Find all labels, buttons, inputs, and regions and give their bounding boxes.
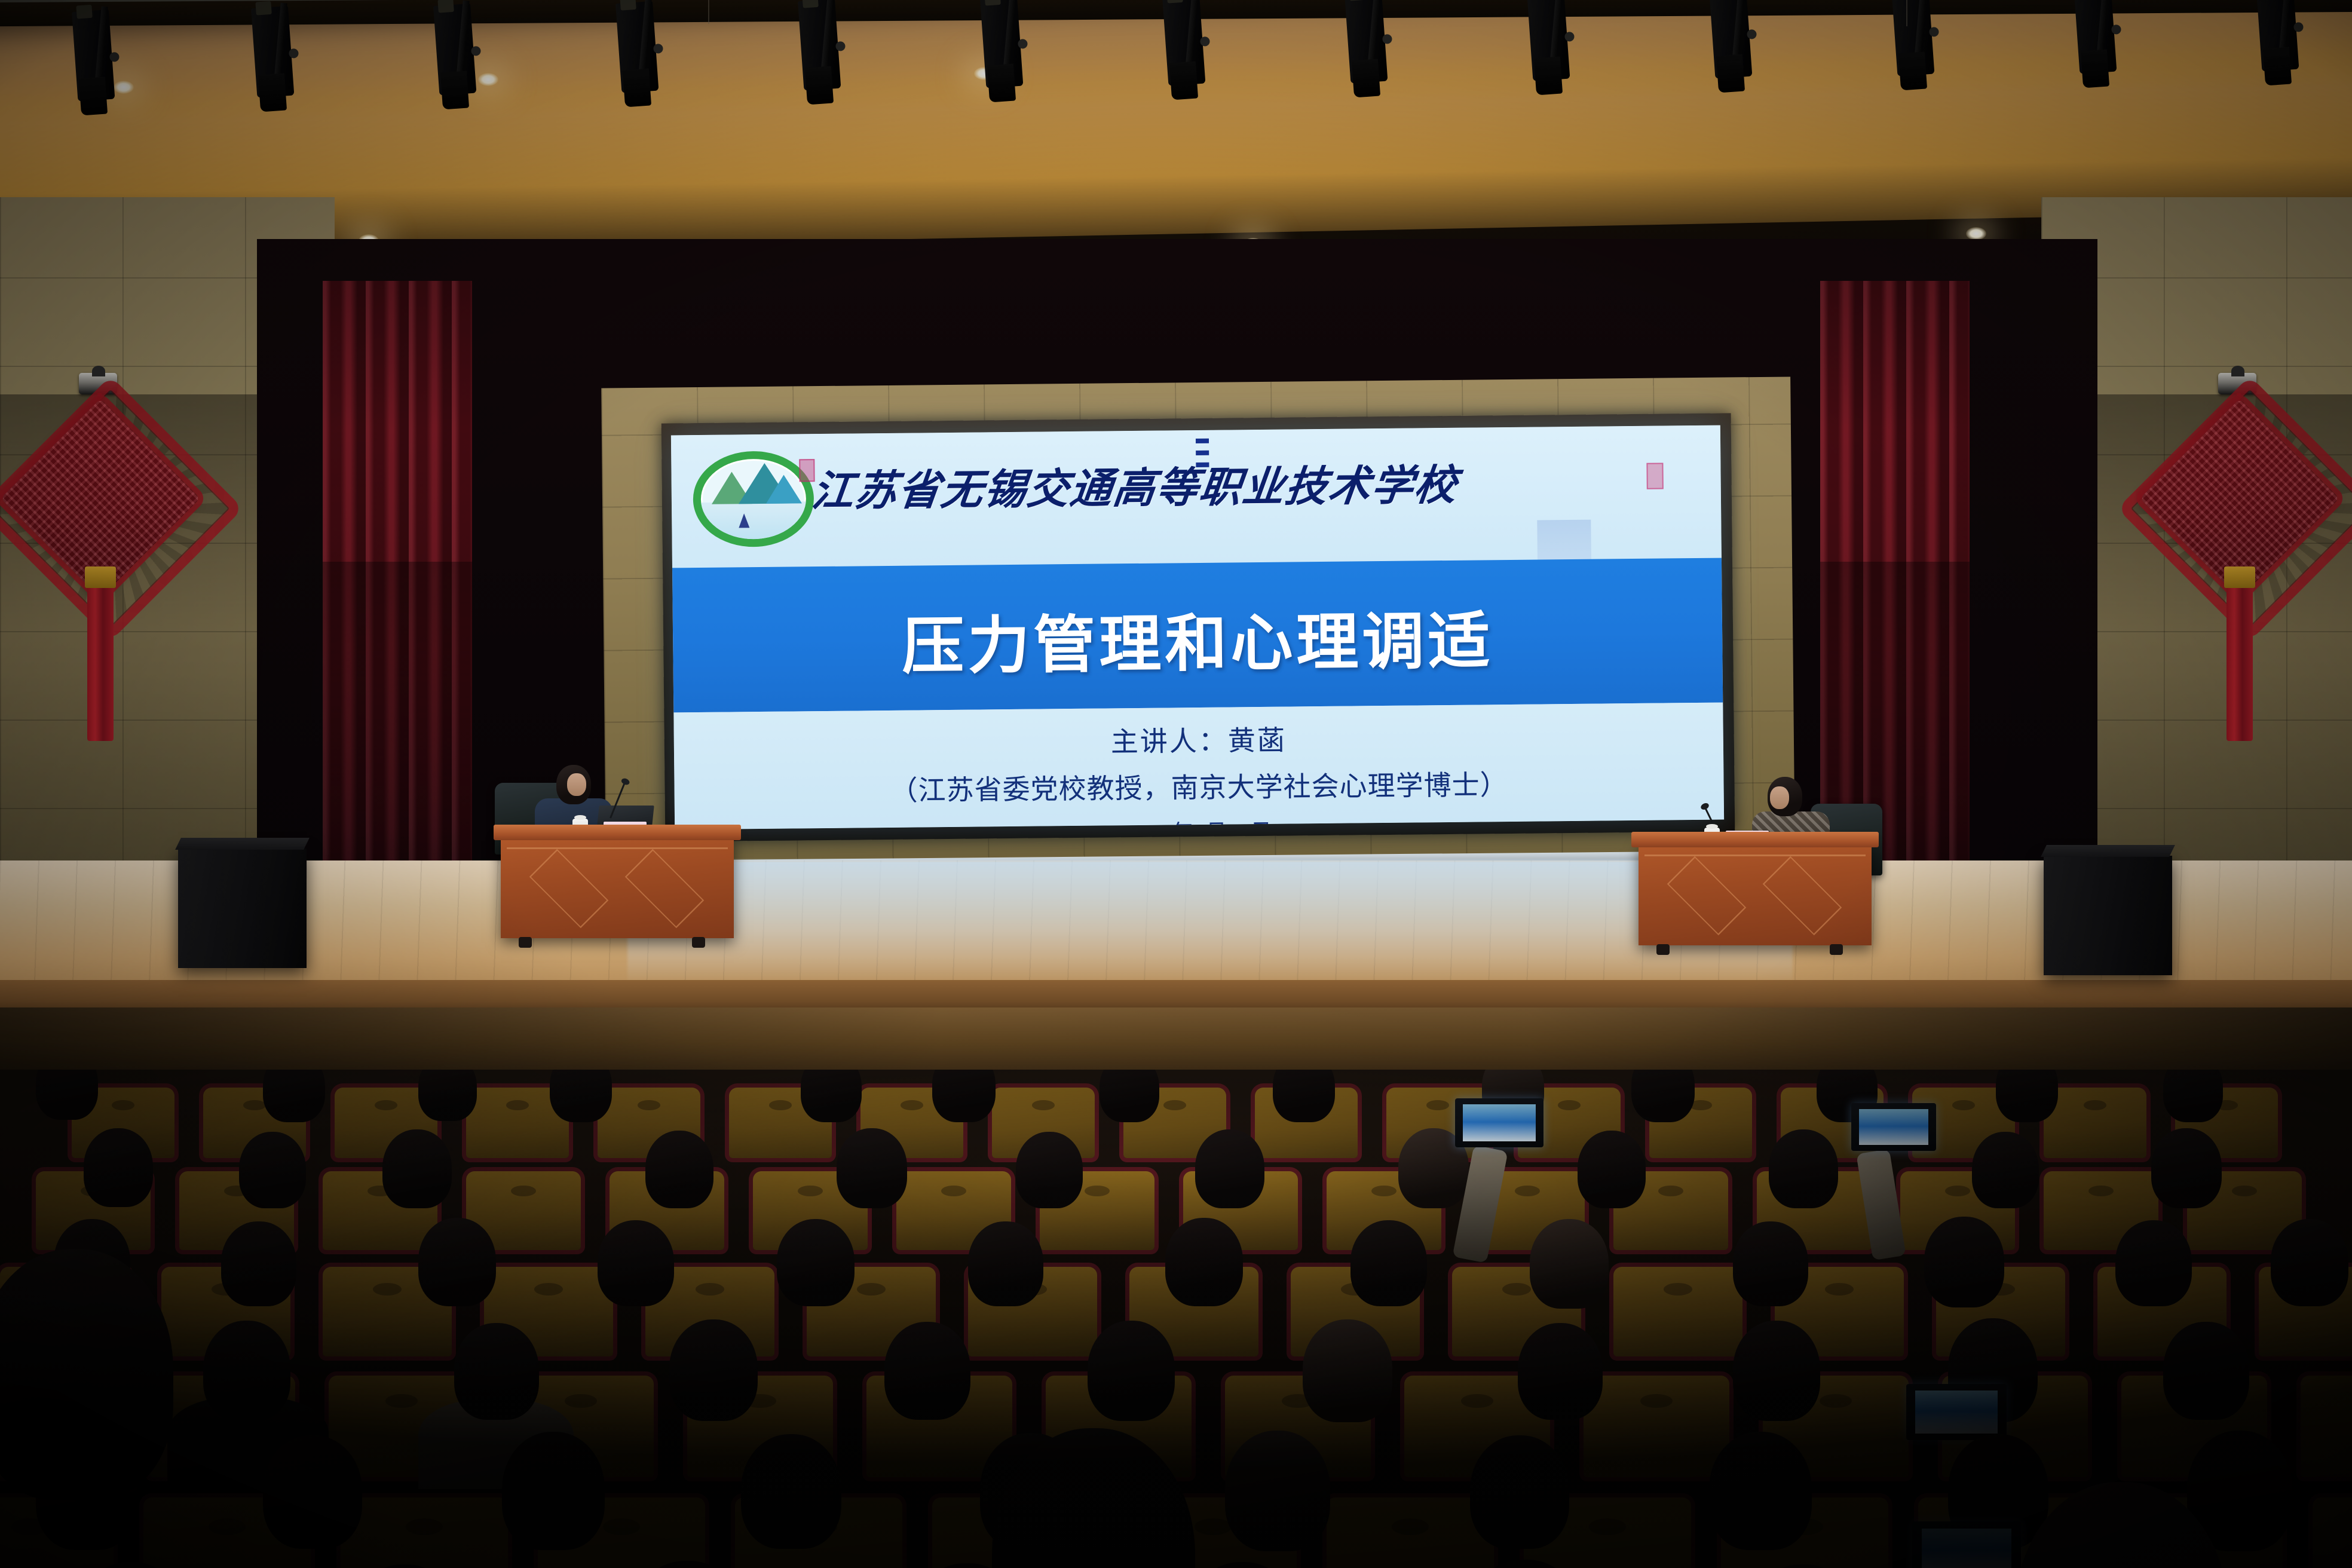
desk-rail: [507, 847, 728, 849]
audience-head: [1631, 1070, 1695, 1122]
slide-header: 江苏省无锡交通高等职业技术学校: [671, 425, 1722, 568]
audience-head: [1470, 1435, 1569, 1549]
audience-head: [1578, 1131, 1646, 1208]
audience-head: [1273, 1070, 1335, 1122]
truss-hang-wire-1: [708, 0, 709, 24]
stage-light-fixture-1: [72, 10, 115, 102]
seat: [1613, 1267, 1742, 1356]
audience-head: [1088, 1321, 1175, 1421]
audience-head: [1733, 1221, 1808, 1306]
audience-head-foreground-left: [0, 1249, 173, 1500]
desk-caster-right: [1830, 944, 1843, 955]
audience-head: [2115, 1220, 2192, 1306]
chinese-knot-left: [12, 370, 191, 825]
audience-head: [2163, 1322, 2249, 1420]
audience-head: [1769, 1129, 1838, 1208]
audience-head: [36, 1070, 98, 1120]
seal-stamp-right: [1646, 463, 1663, 489]
audience-phone: [1851, 1103, 1936, 1151]
knot-tassel: [87, 568, 114, 741]
slide-title-band: 压力管理和心理调适: [672, 558, 1723, 713]
desk-rail: [1644, 855, 1866, 856]
audience-head: [263, 1070, 325, 1122]
downlight-6: [1966, 227, 1986, 240]
desk-caster-left: [519, 937, 532, 948]
stage-light-fixture-3: [433, 4, 476, 96]
audience-head: [801, 1070, 862, 1122]
slide-dash-artifact: [1196, 439, 1209, 480]
logo-lake: [701, 502, 807, 540]
stage-light-fixture-2: [251, 6, 294, 98]
audience-head: [418, 1218, 496, 1306]
slide-school-name: 江苏省无锡交通高等职业技术学校: [809, 452, 1461, 518]
audience-head: [382, 1129, 452, 1208]
seat: [341, 1497, 508, 1568]
audience-head: [741, 1434, 841, 1549]
audience-head: [550, 1070, 612, 1122]
audience-head: [1530, 1219, 1609, 1309]
moderator-desk: [501, 837, 734, 938]
audience-head: [1100, 1070, 1159, 1122]
audience-head: [454, 1323, 539, 1420]
audience-head: [1195, 1129, 1264, 1208]
audience-head: [2271, 1219, 2348, 1306]
audience-head: [84, 1128, 153, 1207]
stage-light-fixture-7: [1162, 0, 1205, 86]
slide-credentials: （江苏省委党校教授，南京大学社会心理学博士）: [674, 761, 1724, 811]
audience-head: [932, 1070, 996, 1122]
stage-light-fixture-8: [1345, 0, 1388, 84]
stage-curtain-left: [323, 281, 472, 950]
audience-head: [837, 1128, 907, 1208]
moderator-face: [567, 773, 586, 796]
audience-head: [502, 1432, 605, 1550]
seal-stamp-left: [799, 459, 814, 482]
audience-head: [1016, 1132, 1083, 1208]
desk-diamond-panel-right: [1763, 856, 1842, 936]
slide-title: 压力管理和心理调适: [672, 588, 1722, 688]
presentation-slide: Wuxi Institute of Communications Technol…: [671, 425, 1724, 830]
audience-head: [884, 1322, 970, 1420]
audience-head: [221, 1221, 296, 1306]
audience-phone: [1912, 1521, 2021, 1568]
audience-head: [1924, 1217, 2004, 1307]
audience-head: [263, 1435, 362, 1549]
audience-head: [203, 1321, 290, 1421]
pa-speaker-left: [178, 849, 307, 968]
logo-sailboat: [739, 513, 749, 528]
stage-light-fixture-9: [1527, 0, 1570, 81]
audience-head: [1709, 1432, 1812, 1550]
audience-head: [645, 1131, 713, 1208]
truss-hang-wire-2: [1906, 0, 1907, 26]
desk-caster-left: [1656, 944, 1670, 955]
audience-head: [968, 1221, 1043, 1306]
stage-light-fixture-6: [980, 0, 1023, 88]
audience-head: [418, 1070, 477, 1121]
desk-diamond-panel-left: [1667, 856, 1747, 936]
audience-head: [598, 1220, 674, 1306]
seat: [1327, 1497, 1494, 1568]
stage-light-fixture-5: [798, 0, 841, 91]
logo-mountain-3: [766, 474, 802, 504]
slide-presenter: 主讲人：黄菡: [674, 715, 1724, 764]
stage-light-fixture-13: [2256, 0, 2299, 72]
seat: [1584, 1376, 1729, 1477]
desk-diamond-panel-right: [625, 849, 705, 929]
seat: [2301, 1376, 2352, 1477]
audience-head: [1733, 1321, 1820, 1421]
downlight-1: [114, 81, 134, 94]
audience-head: [1996, 1070, 2058, 1122]
stage-light-fixture-4: [615, 1, 659, 93]
seat: [2313, 1497, 2352, 1568]
audience-head: [1225, 1431, 1330, 1551]
desk-diamond-panel-left: [529, 849, 609, 929]
stage-light-fixture-11: [1891, 0, 1934, 76]
desk-top-surface: [494, 825, 741, 840]
audience-head: [1165, 1218, 1243, 1306]
knot-tassel: [2227, 568, 2253, 741]
school-crest-logo: [693, 451, 814, 547]
audience-house: [0, 1070, 2352, 1568]
auditorium-photo: Wuxi Institute of Communications Technol…: [0, 0, 2352, 1568]
chinese-knot-right: [2151, 370, 2330, 825]
desk-top-surface: [1631, 832, 1879, 847]
audience-head: [1972, 1132, 2039, 1208]
slide-footer: 主讲人：黄菡 （江苏省委党校教授，南京大学社会心理学博士） 2023年3月20日: [673, 703, 1724, 830]
audience-phone: [1906, 1384, 2007, 1440]
audience-head: [1303, 1319, 1392, 1422]
stage-light-fixture-10: [1709, 0, 1752, 79]
audience-head: [239, 1132, 306, 1208]
pa-speaker-right: [2044, 856, 2172, 975]
speaker-face: [1770, 786, 1789, 809]
audience-head: [2163, 1070, 2223, 1122]
stage-floor-reflection: [627, 860, 1793, 986]
audience-head: [669, 1319, 758, 1421]
audience-head: [2151, 1128, 2222, 1208]
audience-head: [1350, 1220, 1427, 1306]
audience-phone: [1455, 1098, 1543, 1147]
audience-head: [1518, 1323, 1603, 1420]
desk-caster-right: [692, 937, 705, 948]
seat: [2044, 1088, 2146, 1158]
downlight-2: [478, 73, 498, 86]
stage-light-fixture-12: [2074, 0, 2117, 74]
speaker-desk: [1639, 844, 1872, 945]
audience-head: [777, 1219, 855, 1306]
